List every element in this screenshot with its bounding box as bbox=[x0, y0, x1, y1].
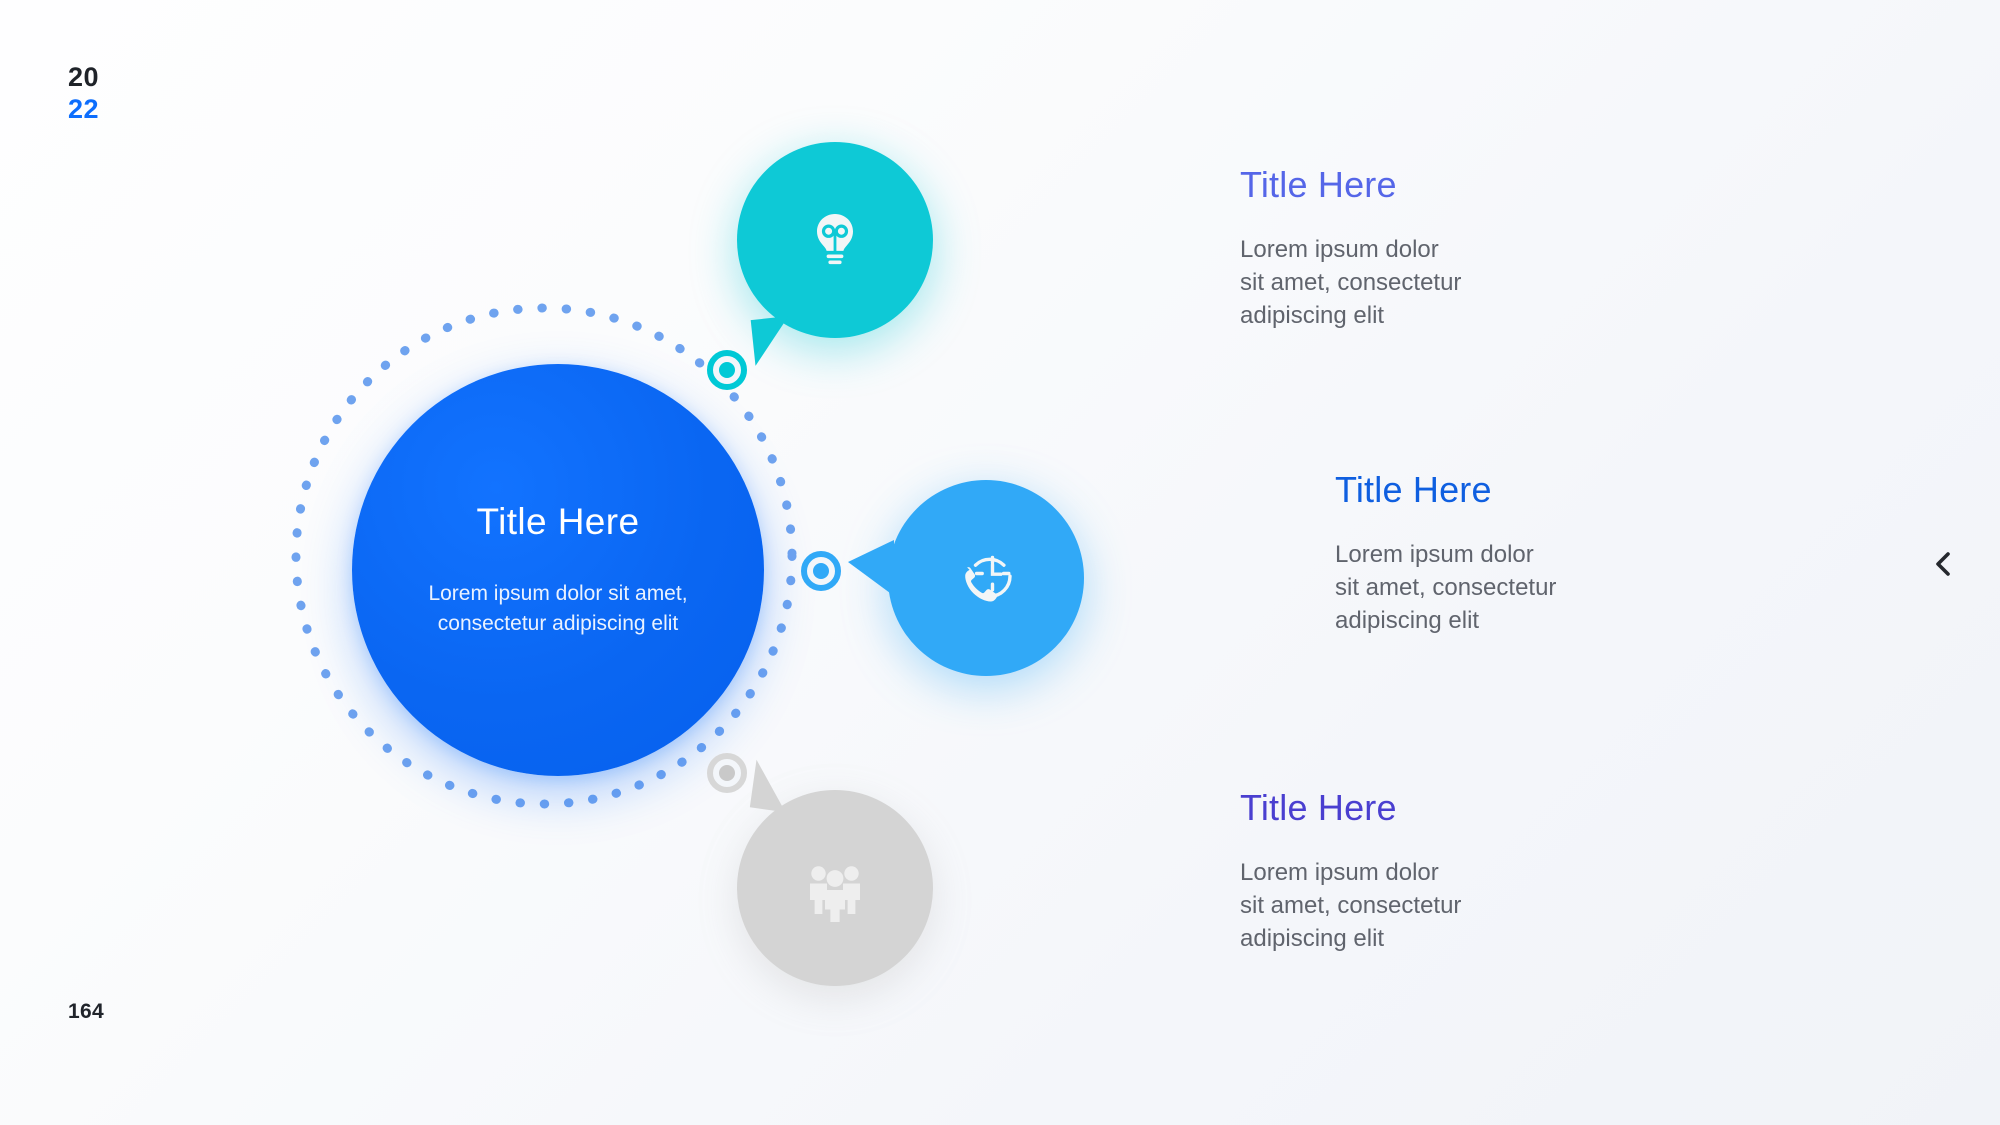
marker-ring-2 bbox=[801, 551, 841, 591]
center-node[interactable]: Title Here Lorem ipsum dolor sit amet, c… bbox=[352, 364, 764, 776]
phone-clock-icon bbox=[951, 543, 1021, 613]
info-description-3: Lorem ipsum dolor sit amet, consectetur … bbox=[1240, 856, 1461, 955]
bubble-node-2[interactable] bbox=[888, 480, 1084, 676]
info-block-1: Title Here Lorem ipsum dolor sit amet, c… bbox=[1240, 165, 1461, 332]
slide-canvas: 20 22 164 Title Here Lorem ipsum dolor s… bbox=[0, 0, 2000, 1125]
bubble-node-1[interactable] bbox=[737, 142, 933, 338]
info-description-2: Lorem ipsum dolor sit amet, consectetur … bbox=[1335, 538, 1556, 637]
info-block-3: Title Here Lorem ipsum dolor sit amet, c… bbox=[1240, 788, 1461, 955]
infographic-diagram: Title Here Lorem ipsum dolor sit amet, c… bbox=[0, 0, 1180, 1125]
people-group-icon bbox=[801, 854, 869, 922]
orbit-marker-3[interactable] bbox=[707, 753, 747, 793]
info-title-2: Title Here bbox=[1335, 470, 1556, 510]
center-title: Title Here bbox=[476, 501, 639, 543]
info-title-3: Title Here bbox=[1240, 788, 1461, 828]
bubble-node-3[interactable] bbox=[737, 790, 933, 986]
marker-ring-1 bbox=[707, 350, 747, 390]
marker-ring-3 bbox=[707, 753, 747, 793]
bubble-tail-1 bbox=[751, 316, 794, 366]
bubble-tail-3 bbox=[750, 760, 792, 813]
info-title-1: Title Here bbox=[1240, 165, 1461, 205]
previous-slide-button[interactable] bbox=[1920, 540, 1968, 588]
marker-core-3 bbox=[719, 765, 735, 781]
marker-core-2 bbox=[813, 563, 829, 579]
marker-core-1 bbox=[719, 362, 735, 378]
chevron-left-icon bbox=[1929, 549, 1959, 579]
orbit-marker-1[interactable] bbox=[707, 350, 747, 390]
info-block-2: Title Here Lorem ipsum dolor sit amet, c… bbox=[1335, 470, 1556, 637]
lightbulb-icon bbox=[803, 208, 867, 272]
info-description-1: Lorem ipsum dolor sit amet, consectetur … bbox=[1240, 233, 1461, 332]
center-description: Lorem ipsum dolor sit amet, consectetur … bbox=[423, 579, 693, 639]
bubble-tail-2 bbox=[848, 540, 894, 596]
orbit-marker-2[interactable] bbox=[801, 551, 841, 591]
